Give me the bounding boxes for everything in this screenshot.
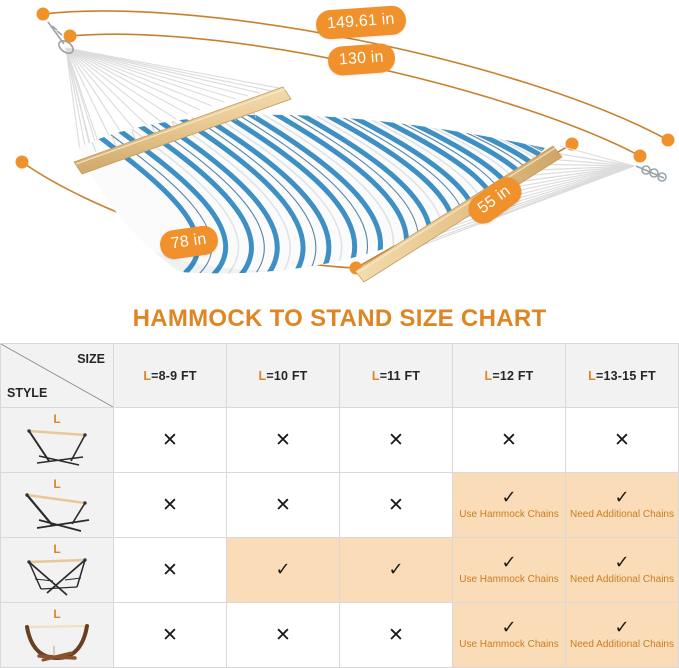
cell-mark: ✕ [501, 431, 517, 450]
cell-mark: ✓ [614, 619, 629, 637]
corner-header-cell: SIZE STYLE [1, 344, 114, 408]
column-header-2: L=11 FT [340, 344, 453, 408]
column-header-1-rest: =10 FT [266, 369, 307, 383]
cell-r2c4: ✓ Need Additional Chains [566, 538, 679, 603]
cell-r1c3: ✓ Use Hammock Chains [453, 473, 566, 538]
style-cell-row-2: L [1, 538, 114, 603]
cell-mark: ✕ [275, 431, 291, 450]
table-row: L ✕ ✓ ✓ [1, 538, 679, 603]
cell-r1c1: ✕ [227, 473, 340, 538]
dimension-badge-bed-length: 130 in [327, 43, 396, 77]
cell-r3c3: ✓ Use Hammock Chains [453, 603, 566, 668]
cell-r2c1: ✓ [227, 538, 340, 603]
corner-size-label: SIZE [77, 352, 105, 366]
cell-r0c3: ✕ [453, 408, 566, 473]
cell-mark: ✕ [388, 626, 404, 645]
cell-mark: ✓ [501, 489, 516, 507]
stand-v-frame-icon: L [9, 541, 105, 599]
column-header-0: L=8-9 FT [114, 344, 227, 408]
cell-mark: ✕ [275, 496, 291, 515]
cell-mark: ✓ [275, 561, 290, 579]
chart-title: HAMMOCK TO STAND SIZE CHART [0, 305, 679, 333]
column-header-0-rest: =8-9 FT [151, 369, 197, 383]
cell-r0c1: ✕ [227, 408, 340, 473]
cell-note: Need Additional Chains [567, 508, 677, 521]
cell-note: Need Additional Chains [567, 638, 677, 651]
cell-r3c4: ✓ Need Additional Chains [566, 603, 679, 668]
cell-r2c3: ✓ Use Hammock Chains [453, 538, 566, 603]
product-image-panel: 149.61 in 130 in 78 in 55 in [0, 0, 679, 295]
cell-mark: ✓ [614, 489, 629, 507]
stand-trapezoid-angled-icon: L [9, 476, 105, 534]
table-header-row: SIZE STYLE L=8-9 FT L=10 FT L=11 FT L=12… [1, 344, 679, 408]
cell-mark: ✓ [388, 561, 403, 579]
cell-r3c2: ✕ [340, 603, 453, 668]
cell-mark: ✓ [501, 619, 516, 637]
stand-icon-l-label-0: L [53, 412, 60, 426]
stand-trapezoid-straight-icon: L [9, 411, 105, 469]
column-header-0-l: L [143, 369, 151, 383]
cell-r3c0: ✕ [114, 603, 227, 668]
cell-note: Need Additional Chains [567, 573, 677, 586]
cell-mark: ✕ [162, 496, 178, 515]
hammock-illustration [0, 0, 679, 295]
style-cell-row-3: L [1, 603, 114, 668]
cell-r0c4: ✕ [566, 408, 679, 473]
cell-r3c1: ✕ [227, 603, 340, 668]
cell-mark: ✕ [388, 496, 404, 515]
table-row: L ✕ ✕ ✕ ✓ Use Hammock Chains [1, 473, 679, 538]
cell-note: Use Hammock Chains [456, 573, 561, 586]
cell-r0c2: ✕ [340, 408, 453, 473]
column-header-2-rest: =11 FT [380, 369, 420, 383]
cell-note: Use Hammock Chains [456, 508, 561, 521]
style-cell-row-1: L [1, 473, 114, 538]
cell-r2c0: ✕ [114, 538, 227, 603]
cell-r1c4: ✓ Need Additional Chains [566, 473, 679, 538]
column-header-1: L=10 FT [227, 344, 340, 408]
cell-mark: ✕ [162, 431, 178, 450]
column-header-3: L=12 FT [453, 344, 566, 408]
table-row: L ✕ ✕ ✕ ✕ ✕ [1, 408, 679, 473]
hammock-to-stand-size-table: SIZE STYLE L=8-9 FT L=10 FT L=11 FT L=12… [0, 343, 679, 668]
cell-mark: ✕ [162, 626, 178, 645]
column-header-4: L=13-15 FT [566, 344, 679, 408]
cell-r1c2: ✕ [340, 473, 453, 538]
stand-wooden-arc-icon: L [9, 606, 105, 664]
cell-mark: ✓ [501, 554, 516, 572]
stand-icon-l-label-3: L [53, 607, 60, 621]
column-header-4-rest: =13-15 FT [596, 369, 656, 383]
cell-mark: ✕ [162, 561, 178, 580]
table-row: L ✕ ✕ ✕ ✓ Use Hammock Chains [1, 603, 679, 668]
column-header-3-rest: =12 FT [492, 369, 533, 383]
cell-note: Use Hammock Chains [456, 638, 561, 651]
stand-icon-l-label-2: L [53, 542, 60, 556]
stand-icon-l-label-1: L [53, 477, 60, 491]
right-chain-hook [636, 166, 666, 181]
column-header-4-l: L [588, 369, 596, 383]
cell-mark: ✕ [614, 431, 630, 450]
style-cell-row-0: L [1, 408, 114, 473]
cell-mark: ✕ [388, 431, 404, 450]
corner-style-label: STYLE [7, 386, 47, 400]
cell-r2c2: ✓ [340, 538, 453, 603]
cell-mark: ✕ [275, 626, 291, 645]
cell-mark: ✓ [614, 554, 629, 572]
cell-r0c0: ✕ [114, 408, 227, 473]
column-header-2-l: L [372, 369, 380, 383]
cell-r1c0: ✕ [114, 473, 227, 538]
